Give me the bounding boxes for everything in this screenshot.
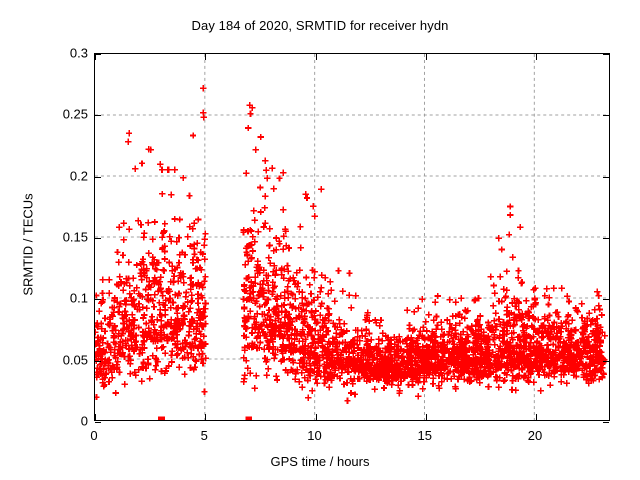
y-tick-mark xyxy=(603,54,609,55)
x-tick-mark xyxy=(316,414,317,420)
x-tick-mark xyxy=(536,414,537,420)
x-tick-label: 20 xyxy=(528,428,542,443)
y-tick-label: 0.2 xyxy=(70,168,88,183)
y-tick-mark xyxy=(95,115,101,116)
x-tick-mark xyxy=(205,54,206,60)
y-tick-mark xyxy=(95,361,101,362)
x-tick-label: 5 xyxy=(201,428,208,443)
y-tick-label: 0 xyxy=(81,414,88,429)
x-tick-label: 15 xyxy=(418,428,432,443)
y-tick-mark xyxy=(603,115,609,116)
chart-page: Day 184 of 2020, SRMTID for receiver hyd… xyxy=(0,0,640,480)
x-tick-label: 10 xyxy=(307,428,321,443)
x-tick-mark xyxy=(426,54,427,60)
y-tick-label: 0.25 xyxy=(63,107,88,122)
y-tick-mark xyxy=(95,422,101,423)
x-tick-label: 0 xyxy=(90,428,97,443)
y-tick-mark xyxy=(95,238,101,239)
plot-area xyxy=(94,53,610,421)
y-tick-mark xyxy=(603,177,609,178)
x-tick-mark xyxy=(316,54,317,60)
y-tick-label: 0.1 xyxy=(70,291,88,306)
y-tick-label: 0.05 xyxy=(63,352,88,367)
x-tick-mark xyxy=(95,414,96,420)
y-tick-label: 0.15 xyxy=(63,230,88,245)
page-title: Day 184 of 2020, SRMTID for receiver hyd… xyxy=(0,18,640,33)
y-tick-mark xyxy=(603,422,609,423)
scatter-points xyxy=(95,54,609,420)
x-tick-mark xyxy=(426,414,427,420)
y-tick-mark xyxy=(95,177,101,178)
x-tick-mark xyxy=(536,54,537,60)
x-tick-mark xyxy=(95,54,96,60)
y-tick-label: 0.3 xyxy=(70,46,88,61)
y-axis-label: SRMTID / TECUs xyxy=(21,165,36,325)
y-tick-mark xyxy=(95,299,101,300)
y-tick-mark xyxy=(603,238,609,239)
y-tick-mark xyxy=(603,361,609,362)
x-axis-label: GPS time / hours xyxy=(0,454,640,469)
x-tick-mark xyxy=(205,414,206,420)
y-tick-mark xyxy=(603,299,609,300)
